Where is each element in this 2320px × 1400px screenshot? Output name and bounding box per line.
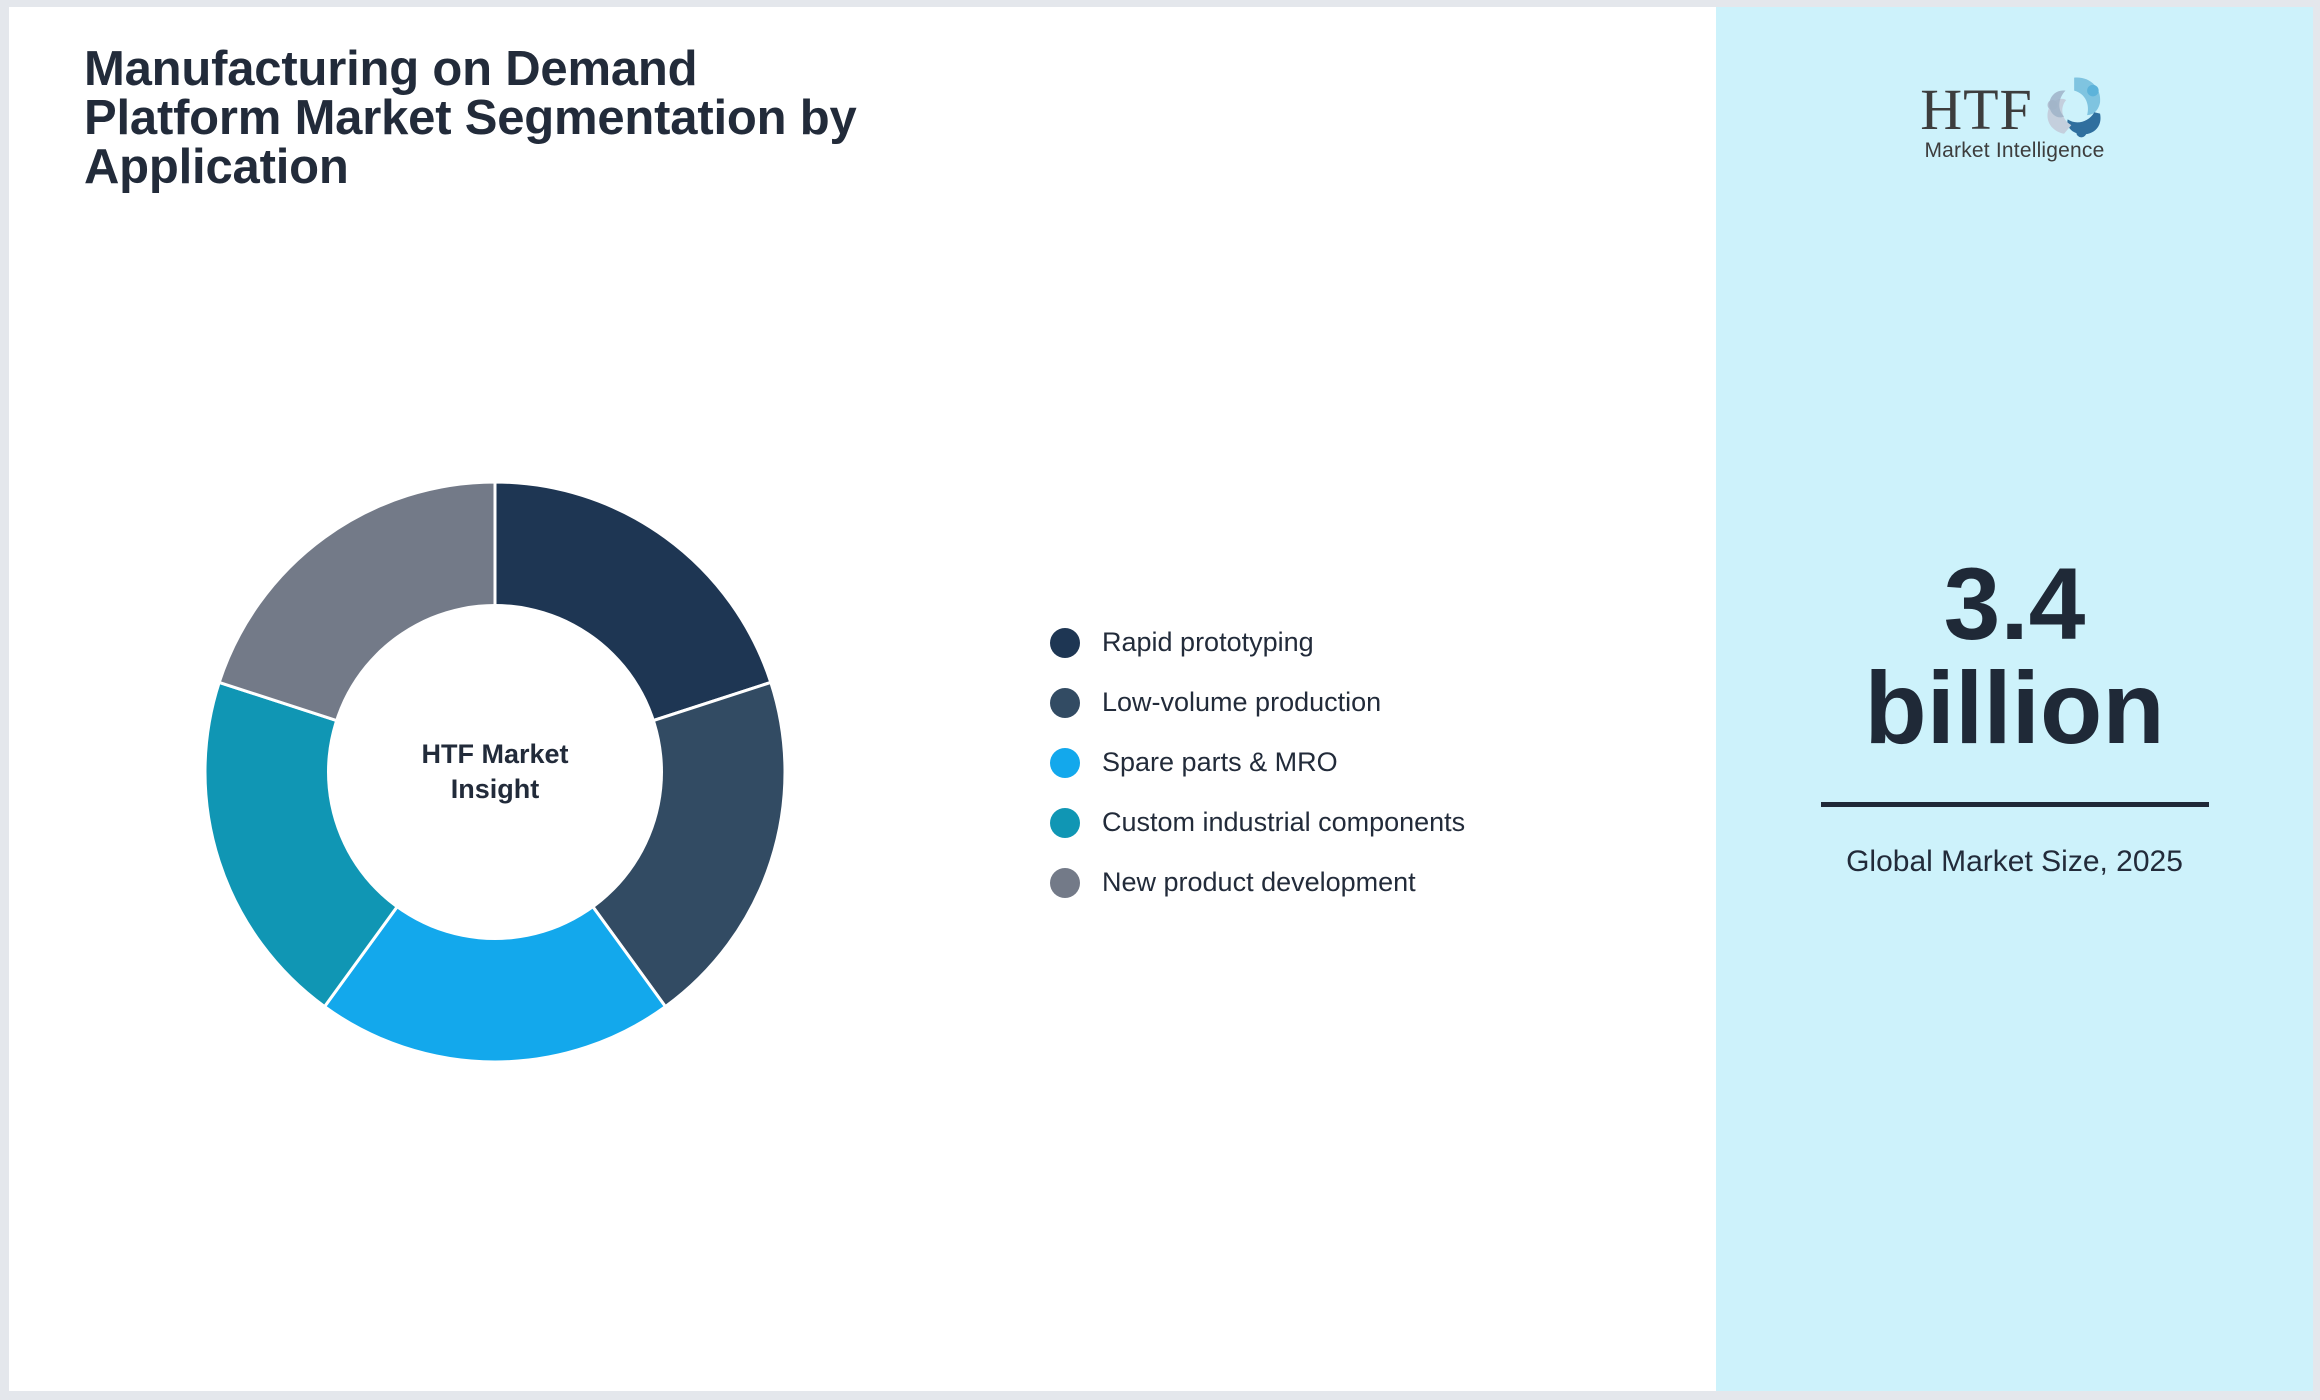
legend-item[interactable]: Low-volume production xyxy=(1050,687,1465,718)
htf-swirl-icon xyxy=(2037,69,2109,141)
donut-chart-svg xyxy=(205,482,785,1062)
stat-panel: HTF Market Intelligence 3.4 billion Glob… xyxy=(1716,7,2313,1391)
logo-subtitle: Market Intelligence xyxy=(1924,139,2104,163)
infographic-canvas: Manufacturing on Demand Platform Market … xyxy=(0,0,2320,1400)
stat-caption: Global Market Size, 2025 xyxy=(1755,843,2275,881)
headline-stat: 3.4 billion Global Market Size, 2025 xyxy=(1755,552,2275,881)
legend-swatch-icon xyxy=(1050,868,1080,898)
brand-logo: HTF Market Intelligence xyxy=(1920,69,2109,163)
legend-swatch-icon xyxy=(1050,808,1080,838)
legend-label: Custom industrial components xyxy=(1102,807,1465,838)
chart-legend: Rapid prototypingLow-volume productionSp… xyxy=(1050,627,1465,898)
chart-panel: Manufacturing on Demand Platform Market … xyxy=(9,7,1716,1391)
legend-swatch-icon xyxy=(1050,688,1080,718)
legend-item[interactable]: Custom industrial components xyxy=(1050,807,1465,838)
legend-label: Spare parts & MRO xyxy=(1102,747,1338,778)
logo-row: HTF xyxy=(1920,69,2109,137)
legend-label: New product development xyxy=(1102,867,1416,898)
donut-hole xyxy=(327,604,663,940)
logo-wordmark: HTF xyxy=(1920,82,2033,137)
legend-item[interactable]: Rapid prototyping xyxy=(1050,627,1465,658)
legend-item[interactable]: New product development xyxy=(1050,867,1465,898)
legend-label: Low-volume production xyxy=(1102,687,1381,718)
page-title: Manufacturing on Demand Platform Market … xyxy=(84,45,1084,192)
legend-label: Rapid prototyping xyxy=(1102,627,1314,658)
legend-swatch-icon xyxy=(1050,628,1080,658)
legend-item[interactable]: Spare parts & MRO xyxy=(1050,747,1465,778)
stat-divider xyxy=(1821,802,2209,807)
legend-swatch-icon xyxy=(1050,748,1080,778)
donut-chart: HTF Market Insight xyxy=(205,482,785,1062)
stat-value: 3.4 billion xyxy=(1755,552,2275,760)
